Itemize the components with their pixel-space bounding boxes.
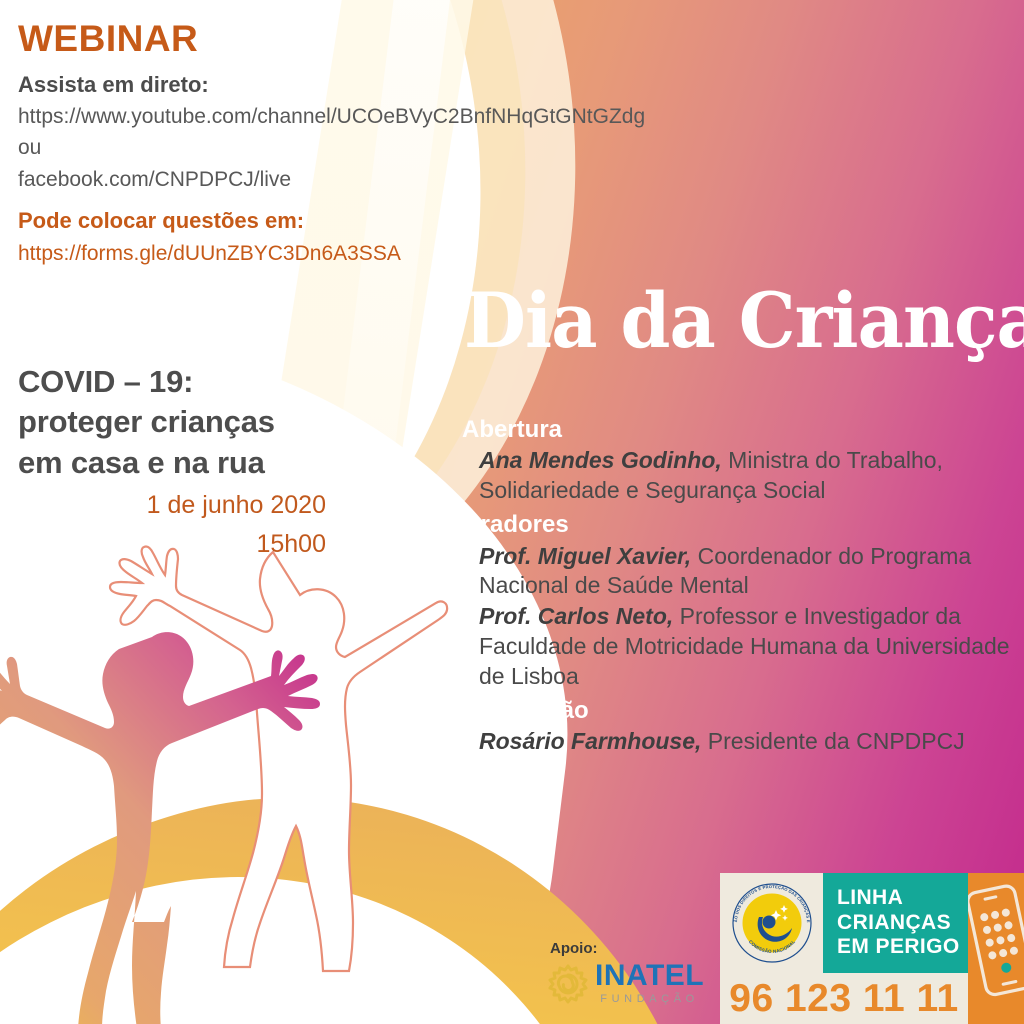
youtube-link[interactable]: https://www.youtube.com/channel/UCOeBVyC… <box>18 101 718 133</box>
helpline-badge: PROMOÇÃO DOS DIREITOS E PROTEÇÃO DAS CRI… <box>720 873 1024 1024</box>
helpline-line1: LINHA <box>837 886 968 911</box>
inatel-subtitle: FUNDAÇÃO <box>595 991 704 1008</box>
covid-title-line3: em casa e na rua <box>18 443 348 483</box>
forms-link[interactable]: https://forms.gle/dUUnZBYC3Dn6A3SSA <box>18 238 718 270</box>
webinar-heading: WEBINAR <box>18 18 718 61</box>
boy-silhouette <box>110 546 447 971</box>
webinar-info-block: WEBINAR Assista em direto: https://www.y… <box>18 18 718 270</box>
mobile-phone-icon <box>968 873 1024 1024</box>
inatel-gear-icon <box>546 962 590 1006</box>
programme-section-moderacao: Moderação Rosário Farmhouse, Presidente … <box>462 695 1022 757</box>
helpline-number[interactable]: 96 123 11 11 <box>720 973 968 1024</box>
programme-entry: Prof. Carlos Neto, Professor e Investiga… <box>462 602 1022 692</box>
section-heading: Moderação <box>462 695 1022 727</box>
helpline-line3: EM PERIGO <box>837 935 968 960</box>
cnpdpcj-seal: PROMOÇÃO DOS DIREITOS E PROTEÇÃO DAS CRI… <box>720 873 823 973</box>
poster-canvas: WEBINAR Assista em direto: https://www.y… <box>0 0 1024 1024</box>
speaker-name: Prof. Miguel Xavier, <box>479 543 691 569</box>
programme-entry: Prof. Miguel Xavier, Coordenador do Prog… <box>462 542 1022 602</box>
programme-entry: Rosário Farmhouse, Presidente da CNPDPCJ <box>462 727 1022 757</box>
page-title: Dia da Criança <box>464 283 1024 359</box>
covid-title-line1: COVID – 19: <box>18 362 348 402</box>
covid-title-line2: proteger crianças <box>18 402 348 442</box>
speaker-name: Rosário Farmhouse, <box>479 728 701 754</box>
helpline-line2: CRIANÇAS <box>837 911 968 936</box>
or-label: ou <box>18 132 718 164</box>
cnpdpcj-seal-icon: PROMOÇÃO DOS DIREITOS E PROTEÇÃO DAS CRI… <box>728 879 816 967</box>
section-heading: Oradores <box>462 509 1022 541</box>
inatel-wordmark: INATEL FUNDAÇÃO <box>595 961 704 1008</box>
speaker-role: Presidente da CNPDPCJ <box>701 728 964 754</box>
inatel-name: INATEL <box>595 961 704 991</box>
covid-topic-block: COVID – 19: proteger crianças em casa e … <box>18 362 348 561</box>
sponsor-label: Apoio: <box>546 940 716 957</box>
speaker-name: Prof. Carlos Neto, <box>479 603 673 629</box>
helpline-name-panel: LINHA CRIANÇAS EM PERIGO <box>823 873 968 973</box>
programme-section-abertura: Abertura Ana Mendes Godinho, Ministra do… <box>462 414 1022 506</box>
programme-section-oradores: Oradores Prof. Miguel Xavier, Coordenado… <box>462 509 1022 692</box>
event-date: 1 de junho 2020 <box>18 489 348 522</box>
speaker-name: Ana Mendes Godinho, <box>479 447 722 473</box>
programme-entry: Ana Mendes Godinho, Ministra do Trabalho… <box>462 446 1022 506</box>
watch-live-label: Assista em direto: <box>18 68 718 101</box>
sponsor-block: Apoio: INATEL FUNDAÇÃO <box>546 940 716 1008</box>
inatel-logo: INATEL FUNDAÇÃO <box>546 961 716 1008</box>
questions-label: Pode colocar questões em: <box>18 203 718 238</box>
programme-list: Abertura Ana Mendes Godinho, Ministra do… <box>462 414 1022 760</box>
section-heading: Abertura <box>462 414 1022 446</box>
event-time: 15h00 <box>18 528 348 561</box>
children-silhouettes-illustration <box>0 540 480 1024</box>
facebook-link[interactable]: facebook.com/CNPDPCJ/live <box>18 164 718 196</box>
helpline-phone-panel <box>968 873 1024 1024</box>
